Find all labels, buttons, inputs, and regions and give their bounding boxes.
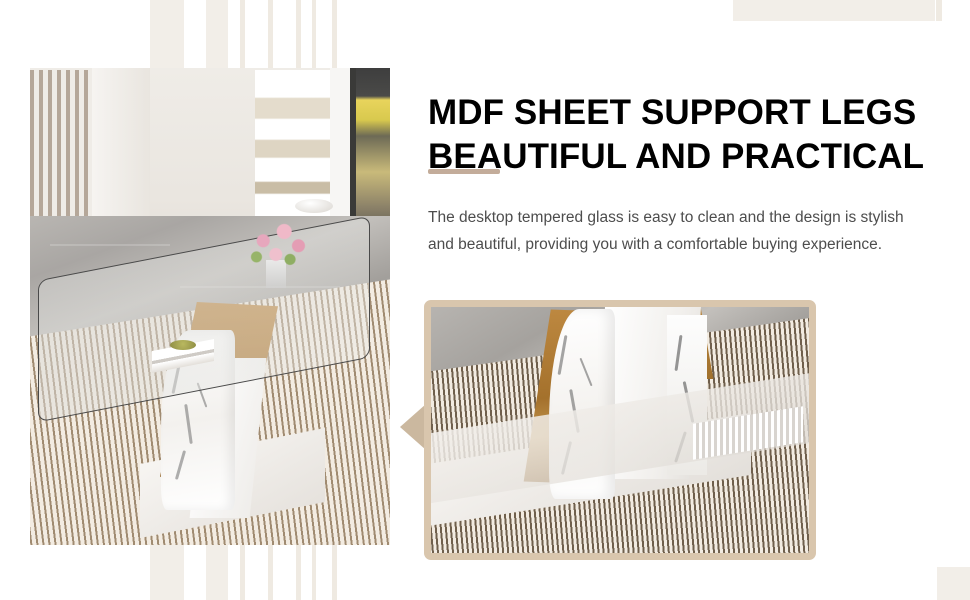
- corner-accent-bottom-right: [937, 567, 970, 600]
- robot-vacuum: [295, 199, 333, 213]
- corner-accent-top-right-line: [936, 0, 942, 21]
- detail-arrow-icon: [400, 404, 426, 450]
- flower-bouquet: [238, 216, 322, 278]
- detail-inset-photo: [424, 300, 816, 560]
- main-product-photo: [30, 68, 390, 545]
- decorative-bowl: [170, 340, 196, 350]
- body-paragraph: The desktop tempered glass is easy to cl…: [428, 204, 918, 259]
- page-title: MDF SHEET SUPPORT LEGS BEAUTIFUL AND PRA…: [428, 91, 948, 178]
- poster-canvas: MDF SHEET SUPPORT LEGS BEAUTIFUL AND PRA…: [0, 0, 970, 600]
- cabinet: [255, 70, 330, 220]
- title-divider: [428, 169, 500, 174]
- corner-accent-top-right: [733, 0, 935, 21]
